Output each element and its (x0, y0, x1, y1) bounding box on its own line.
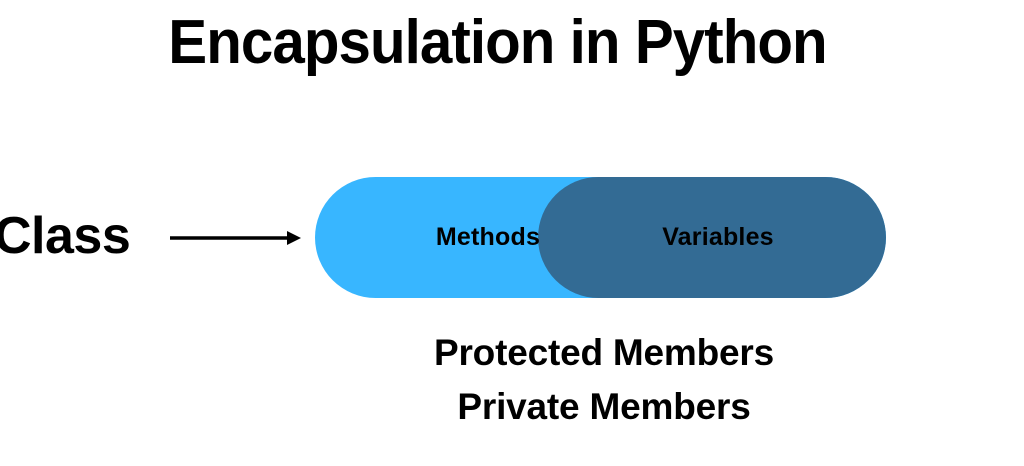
encapsulation-capsule: Methods Variables (315, 177, 886, 298)
class-label: Class (0, 205, 130, 267)
capsule-label-methods: Methods (410, 177, 566, 298)
arrow-right-icon (168, 222, 302, 254)
diagram-canvas: Encapsulation in Python Class Methods Va… (0, 0, 1024, 466)
members-list: Protected Members Private Members (214, 326, 994, 434)
page-title: Encapsulation in Python (30, 6, 965, 80)
members-line-protected: Protected Members (214, 326, 994, 380)
capsule-label-variables: Variables (635, 177, 801, 298)
members-line-private: Private Members (214, 380, 994, 434)
arrow-right-svg (168, 222, 302, 254)
